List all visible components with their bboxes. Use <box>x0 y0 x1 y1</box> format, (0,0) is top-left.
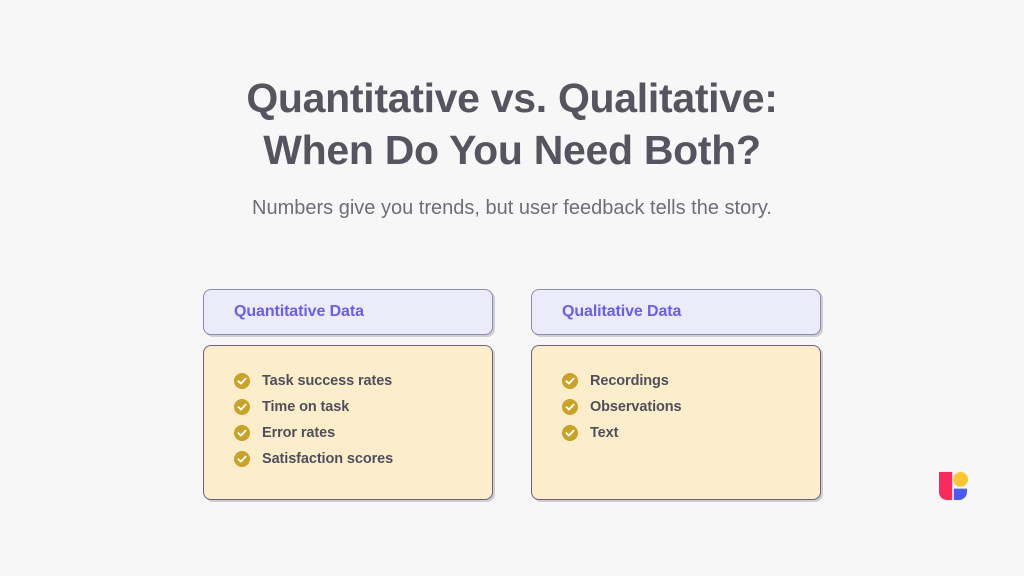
list-item: Recordings <box>562 373 820 389</box>
check-circle-icon <box>234 451 250 467</box>
comparison-columns: Quantitative Data Task success rates <box>203 289 821 500</box>
list-item: Time on task <box>234 399 492 415</box>
card-body-quantitative: Task success rates Time on task <box>203 345 493 500</box>
list-item-label: Task success rates <box>262 373 392 389</box>
check-circle-icon <box>234 425 250 441</box>
list-item-label: Error rates <box>262 425 335 441</box>
card-header-qualitative[interactable]: Qualitative Data <box>531 289 821 335</box>
list-item: Error rates <box>234 425 492 441</box>
column-quantitative: Quantitative Data Task success rates <box>203 289 493 500</box>
card-body-qualitative: Recordings Observations <box>531 345 821 500</box>
page-subtitle: Numbers give you trends, but user feedba… <box>0 194 1024 222</box>
check-circle-icon <box>562 373 578 389</box>
card-header-quantitative[interactable]: Quantitative Data <box>203 289 493 335</box>
list-item-label: Recordings <box>590 373 669 389</box>
list-item: Text <box>562 425 820 441</box>
slide-canvas: Quantitative vs. Qualitative: When Do Yo… <box>0 0 1024 576</box>
column-qualitative: Qualitative Data Recordings <box>531 289 821 500</box>
heading-block: Quantitative vs. Qualitative: When Do Yo… <box>0 72 1024 222</box>
page-title-line-1: Quantitative vs. Qualitative: <box>0 72 1024 124</box>
check-circle-icon <box>562 425 578 441</box>
check-circle-icon <box>234 373 250 389</box>
list-item: Task success rates <box>234 373 492 389</box>
list-item-label: Time on task <box>262 399 349 415</box>
list-item-label: Observations <box>590 399 681 415</box>
check-circle-icon <box>562 399 578 415</box>
page-title: Quantitative vs. Qualitative: When Do Yo… <box>0 72 1024 176</box>
brand-logo-u-icon <box>936 469 970 503</box>
page-title-line-2: When Do You Need Both? <box>0 124 1024 176</box>
item-list-qualitative: Recordings Observations <box>562 373 820 441</box>
card-header-label: Qualitative Data <box>562 303 681 321</box>
card-header-label: Quantitative Data <box>234 303 364 321</box>
list-item: Satisfaction scores <box>234 451 492 467</box>
list-item-label: Satisfaction scores <box>262 451 393 467</box>
list-item-label: Text <box>590 425 618 441</box>
check-circle-icon <box>234 399 250 415</box>
list-item: Observations <box>562 399 820 415</box>
item-list-quantitative: Task success rates Time on task <box>234 373 492 467</box>
